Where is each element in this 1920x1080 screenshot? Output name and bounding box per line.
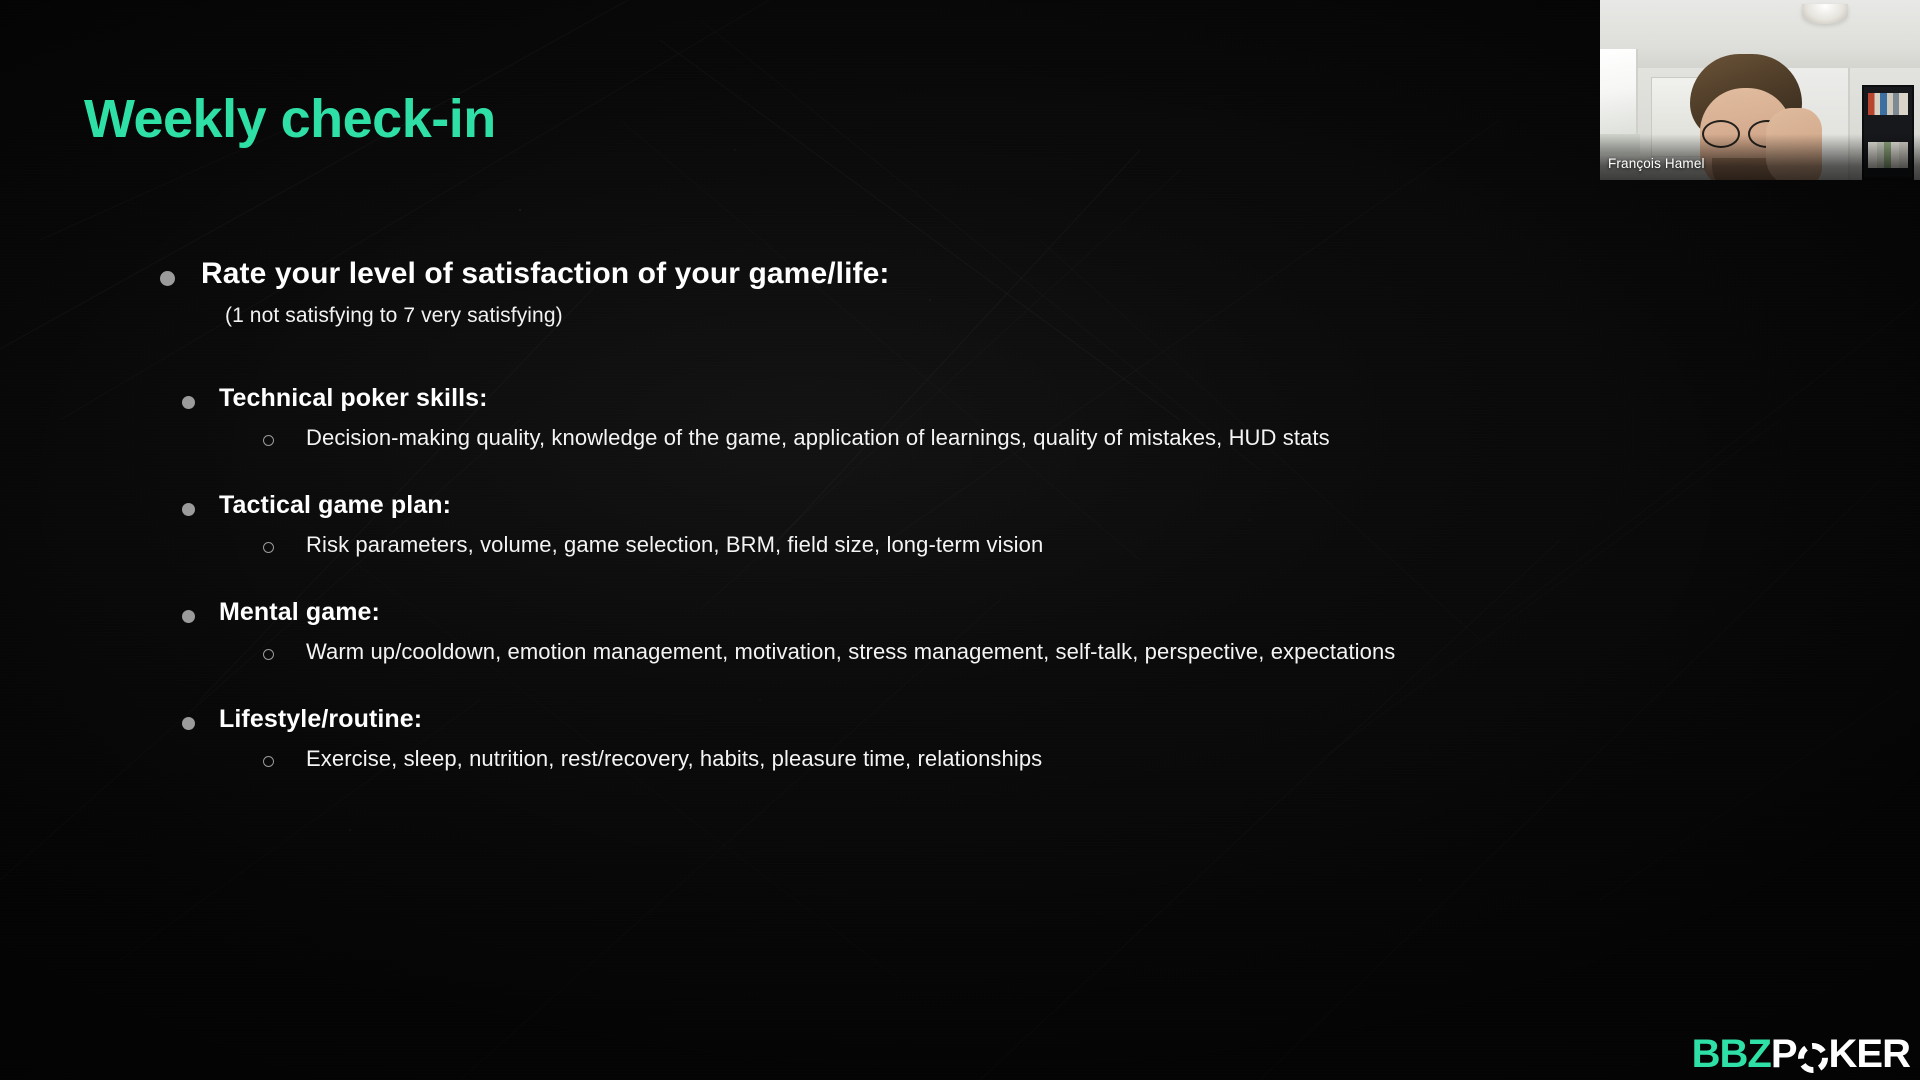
section-heading-row: Mental game: bbox=[182, 598, 1700, 627]
section-heading-row: Lifestyle/routine: bbox=[182, 705, 1700, 734]
bullet-circle-icon bbox=[263, 756, 274, 767]
section-mental-game: Mental game: Warm up/cooldown, emotion m… bbox=[160, 598, 1700, 665]
section-detail: Risk parameters, volume, game selection,… bbox=[306, 532, 1043, 558]
section-heading-row: Tactical game plan: bbox=[182, 491, 1700, 520]
bullet-dot-icon bbox=[182, 610, 195, 623]
slide-content: Rate your level of satisfaction of your … bbox=[160, 255, 1700, 772]
bullet-dot-icon bbox=[182, 396, 195, 409]
section-detail: Exercise, sleep, nutrition, rest/recover… bbox=[306, 746, 1042, 772]
logo-text-p: P bbox=[1771, 1034, 1797, 1074]
section-detail: Warm up/cooldown, emotion management, mo… bbox=[306, 639, 1395, 665]
bullet-circle-icon bbox=[263, 649, 274, 660]
bullet-circle-icon bbox=[263, 542, 274, 553]
ceiling-light-icon bbox=[1802, 4, 1848, 24]
section-heading: Tactical game plan: bbox=[219, 491, 451, 520]
main-bullet: Rate your level of satisfaction of your … bbox=[160, 255, 1700, 293]
bullet-dot-icon bbox=[182, 503, 195, 516]
section-tactical-game-plan: Tactical game plan: Risk parameters, vol… bbox=[160, 491, 1700, 558]
logo-text-ker: KER bbox=[1829, 1034, 1910, 1074]
webcam-video-tile[interactable]: François Hamel bbox=[1600, 0, 1920, 180]
section-detail-row: Warm up/cooldown, emotion management, mo… bbox=[263, 639, 1700, 665]
bullet-dot-icon bbox=[160, 271, 175, 286]
section-heading: Lifestyle/routine: bbox=[219, 705, 422, 734]
bullet-dot-icon bbox=[182, 717, 195, 730]
main-bullet-note: (1 not satisfying to 7 very satisfying) bbox=[225, 304, 1700, 328]
section-heading-row: Technical poker skills: bbox=[182, 384, 1700, 413]
section-lifestyle-routine: Lifestyle/routine: Exercise, sleep, nutr… bbox=[160, 705, 1700, 772]
presentation-slide: Weekly check-in Rate your level of satis… bbox=[0, 0, 1920, 1080]
bbzpoker-logo: BBZ P KER bbox=[1692, 1034, 1910, 1074]
section-technical-poker-skills: Technical poker skills: Decision-making … bbox=[160, 384, 1700, 451]
section-heading: Mental game: bbox=[219, 598, 380, 627]
section-detail-row: Risk parameters, volume, game selection,… bbox=[263, 532, 1700, 558]
webcam-participant-name: François Hamel bbox=[1608, 156, 1705, 171]
webcam-window bbox=[1600, 49, 1638, 143]
poker-chip-icon bbox=[1798, 1043, 1828, 1073]
section-heading: Technical poker skills: bbox=[219, 384, 488, 413]
section-detail-row: Decision-making quality, knowledge of th… bbox=[263, 425, 1700, 451]
section-detail-row: Exercise, sleep, nutrition, rest/recover… bbox=[263, 746, 1700, 772]
slide-title: Weekly check-in bbox=[84, 88, 496, 150]
main-bullet-heading: Rate your level of satisfaction of your … bbox=[201, 255, 890, 293]
webcam-books-top bbox=[1868, 93, 1908, 115]
logo-text-bbz: BBZ bbox=[1692, 1034, 1771, 1074]
bullet-circle-icon bbox=[263, 435, 274, 446]
section-detail: Decision-making quality, knowledge of th… bbox=[306, 425, 1330, 451]
